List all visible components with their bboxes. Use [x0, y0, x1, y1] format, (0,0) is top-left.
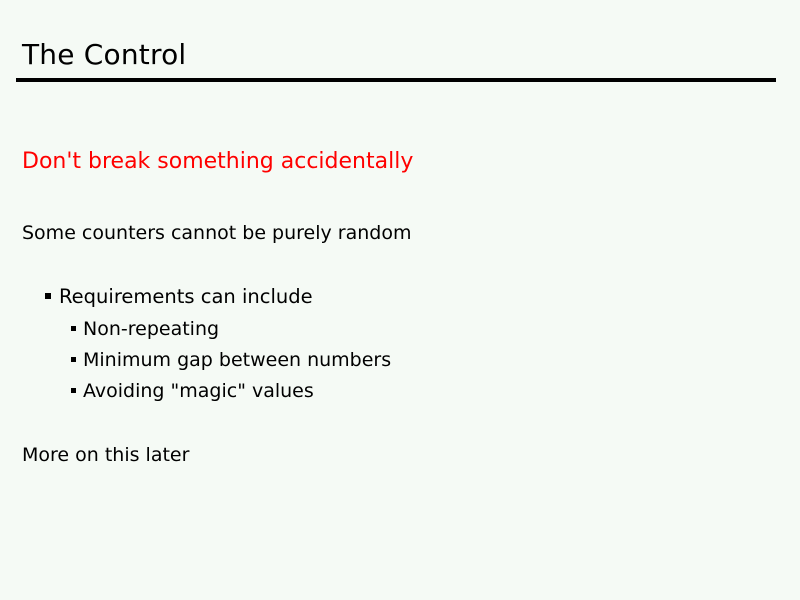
slide: The Control Don't break something accide… [0, 0, 800, 600]
square-bullet-icon [45, 293, 51, 299]
list-item: Non-repeating [0, 316, 800, 347]
list-item: Minimum gap between numbers [0, 347, 800, 378]
list-item-label: Non-repeating [83, 316, 219, 342]
paragraph-more-later: More on this later [22, 443, 189, 468]
square-bullet-icon [71, 357, 76, 362]
paragraph-counters: Some counters cannot be purely random [22, 221, 411, 246]
square-bullet-icon [71, 326, 76, 331]
list-item-label: Minimum gap between numbers [83, 347, 391, 373]
square-bullet-icon [71, 388, 76, 393]
list-item-label: Avoiding "magic" values [83, 378, 314, 404]
list-item-label: Requirements can include [59, 284, 313, 310]
list-item: Requirements can include [0, 284, 800, 316]
list-item: Avoiding "magic" values [0, 378, 800, 409]
bullet-list: Requirements can include Non-repeating M… [0, 284, 800, 409]
lead-warning-text: Don't break something accidentally [22, 148, 413, 176]
slide-body: Don't break something accidentally Some … [0, 0, 800, 600]
